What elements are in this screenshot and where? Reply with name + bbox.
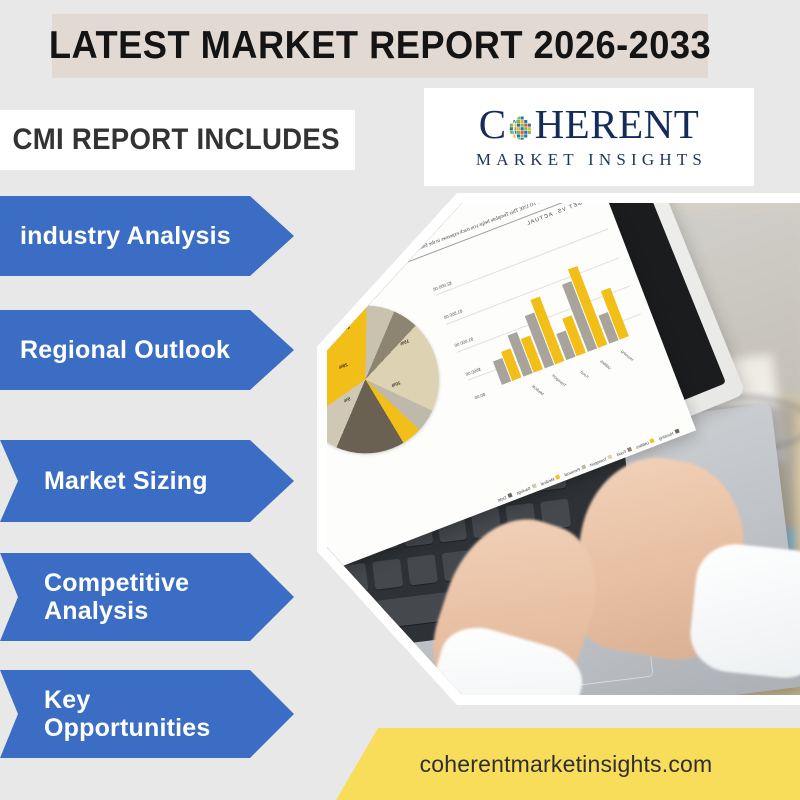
report-item-label: Key Opportunities — [44, 686, 210, 742]
hexagon-photo: MONTHLY BUDGET HOW TO USE This Template … — [327, 203, 800, 695]
logo-letter-c: C — [479, 104, 507, 145]
logo-subtitle: MARKET INSIGHTS — [471, 150, 707, 170]
budget-report-charts: BUDGET VS. ACTUAL $2,000.00 $1,500.00 $1… — [327, 203, 655, 489]
bar-xtick-4: Medical — [531, 383, 545, 396]
report-item-market-sizing[interactable]: Market Sizing — [0, 440, 294, 522]
report-item-label: Competitive Analysis — [44, 569, 189, 625]
report-item-industry-analysis[interactable]: industry Analysis — [0, 196, 294, 276]
bar-ytick-0: $0.00 — [474, 391, 486, 400]
bar-xtick-0: Housing — [620, 348, 634, 361]
footer-banner: coherentmarketinsights.com — [336, 728, 800, 800]
logo-wordmark: C — [479, 104, 700, 145]
bar-xtick-2: Food — [579, 369, 589, 379]
globe-icon — [508, 115, 534, 141]
report-item-key-opportunities[interactable]: Key Opportunities — [0, 670, 294, 758]
section-header-label: CMI REPORT INCLUDES — [0, 123, 339, 157]
title-banner: LATEST MARKET REPORT 2026-2033 — [52, 14, 708, 78]
pie-slices — [327, 284, 461, 474]
legend-item: Debt — [497, 493, 513, 503]
report-item-regional-outlook[interactable]: Regional Outlook — [0, 310, 294, 390]
photo-right-shirt-cuff — [687, 541, 800, 682]
report-item-label: Regional Outlook — [20, 336, 230, 364]
report-item-label: industry Analysis — [20, 222, 231, 250]
bar-xtick-3: Transport — [551, 373, 567, 388]
website-url-link[interactable]: coherentmarketinsights.com — [420, 751, 723, 778]
report-item-label: Market Sizing — [44, 467, 208, 495]
logo-wordmark-text: HERENT — [535, 104, 700, 145]
infographic-canvas: LATEST MARKET REPORT 2026-2033 CMI REPOR… — [0, 0, 800, 800]
bar-xtick-1: Utilities — [599, 358, 612, 370]
page-title: LATEST MARKET REPORT 2026-2033 — [49, 24, 711, 68]
report-item-competitive-analysis[interactable]: Competitive Analysis — [0, 553, 294, 641]
legend-item: Food — [616, 447, 632, 457]
brand-logo-card: C — [424, 88, 754, 186]
section-header-box: CMI REPORT INCLUDES — [0, 110, 355, 170]
